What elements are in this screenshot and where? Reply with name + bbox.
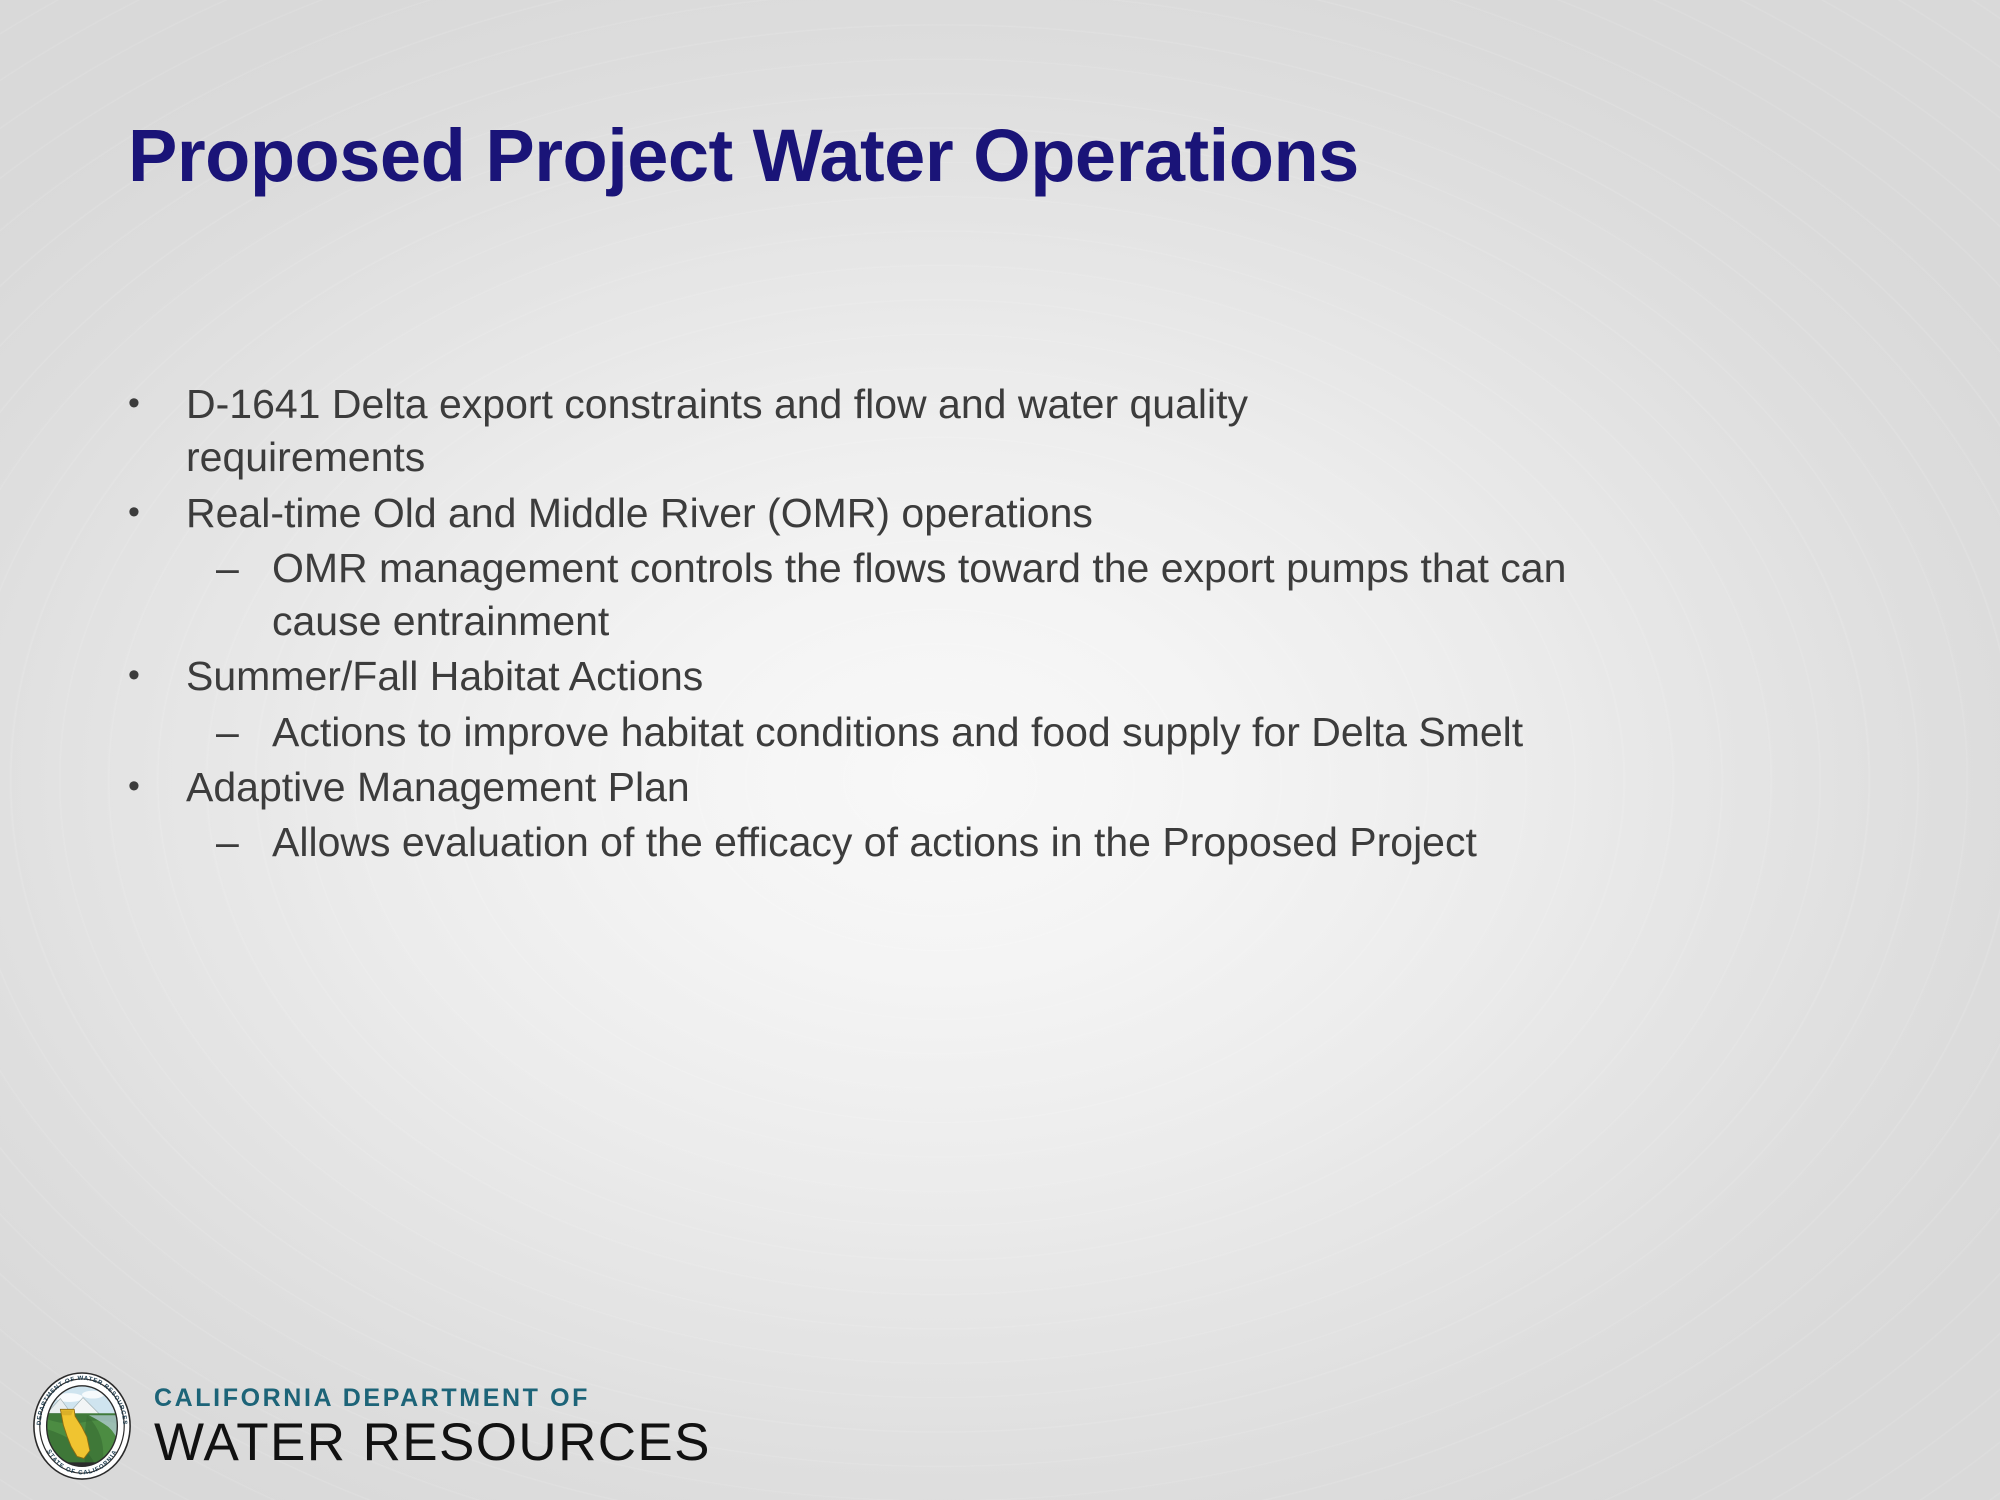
list-item: • Real-time Old and Middle River (OMR) o… (128, 487, 1918, 540)
bullet-dot-icon: • (128, 487, 186, 539)
list-item-text: D-1641 Delta export constraints and flow… (186, 378, 1356, 485)
sub-list-item-text: Allows evaluation of the efficacy of act… (272, 816, 1602, 869)
bullet-dash-icon: – (216, 542, 272, 595)
list-item: • Adaptive Management Plan (128, 761, 1918, 814)
sub-list-item: – Allows evaluation of the efficacy of a… (128, 816, 1918, 869)
sub-list-item-text: OMR management controls the flows toward… (272, 542, 1602, 649)
list-item-text: Summer/Fall Habitat Actions (186, 650, 1356, 703)
list-item-text: Real-time Old and Middle River (OMR) ope… (186, 487, 1356, 540)
bullet-dash-icon: – (216, 816, 272, 869)
ca-dwr-seal-icon: DEPARTMENT OF WATER RESOURCES STATE OF C… (28, 1372, 136, 1484)
logo-line-department: CALIFORNIA DEPARTMENT OF (154, 1385, 711, 1413)
sub-list-item-text: Actions to improve habitat conditions an… (272, 706, 1602, 759)
logo-line-water-resources: WATER RESOURCES (154, 1415, 711, 1471)
logo-wordmark: CALIFORNIA DEPARTMENT OF WATER RESOURCES (154, 1385, 711, 1471)
bullet-dot-icon: • (128, 650, 186, 702)
organization-logo: DEPARTMENT OF WATER RESOURCES STATE OF C… (28, 1372, 711, 1484)
list-item: • D-1641 Delta export constraints and fl… (128, 378, 1918, 485)
bullet-list: • D-1641 Delta export constraints and fl… (128, 378, 1918, 872)
list-item-text: Adaptive Management Plan (186, 761, 1356, 814)
bullet-dot-icon: • (128, 761, 186, 813)
list-item: • Summer/Fall Habitat Actions (128, 650, 1918, 703)
sub-list-item: – Actions to improve habitat conditions … (128, 706, 1918, 759)
bullet-dash-icon: – (216, 706, 272, 759)
sub-list-item: – OMR management controls the flows towa… (128, 542, 1918, 649)
bullet-dot-icon: • (128, 378, 186, 430)
slide-canvas: Proposed Project Water Operations • D-16… (0, 0, 2000, 1500)
page-title: Proposed Project Water Operations (128, 118, 1888, 195)
